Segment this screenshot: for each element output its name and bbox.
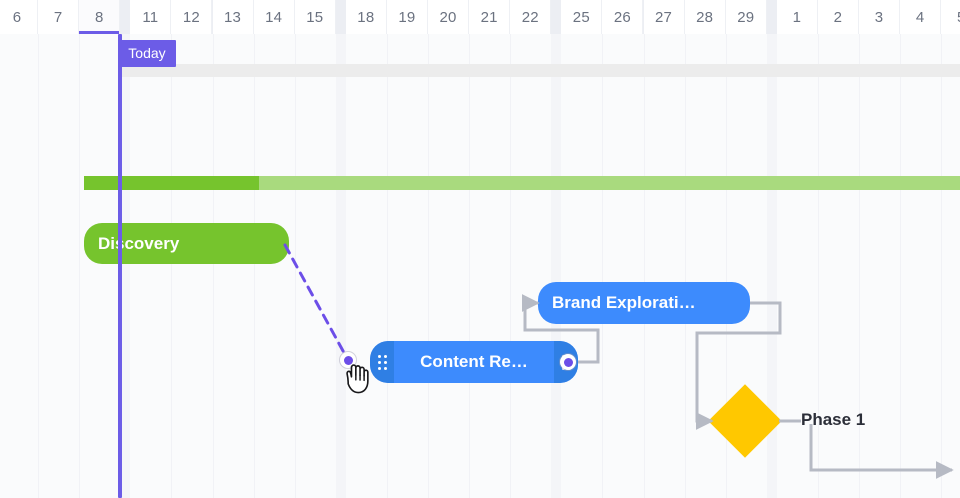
timeline-day-15[interactable]: 15 xyxy=(295,0,336,34)
grid-line xyxy=(213,34,214,498)
grid-line xyxy=(510,34,511,498)
timeline-day-label: 21 xyxy=(481,9,498,26)
grid-line xyxy=(685,34,686,498)
task-bar-content-review[interactable]: Content Re… xyxy=(370,341,578,383)
timeline-day-label: 12 xyxy=(183,9,200,26)
timeline-day-label: 28 xyxy=(696,9,713,26)
timeline-day-1[interactable]: 1 xyxy=(777,0,818,34)
timeline-day-21[interactable]: 21 xyxy=(469,0,510,34)
timeline-day-label: 13 xyxy=(224,9,241,26)
task-bar-discovery[interactable]: Discovery xyxy=(84,223,289,264)
timeline-day-label: 18 xyxy=(357,9,374,26)
weekend-band xyxy=(336,34,346,498)
timeline-day-13[interactable]: 13 xyxy=(213,0,254,34)
timeline-day-28[interactable]: 28 xyxy=(685,0,726,34)
timeline-day-22[interactable]: 22 xyxy=(510,0,551,34)
timeline-day-29[interactable]: 29 xyxy=(726,0,767,34)
task-label-brand-exploration: Brand Explorati… xyxy=(538,293,702,313)
timeline-day-label: 1 xyxy=(793,9,802,26)
weekend-band xyxy=(551,34,561,498)
grid-line xyxy=(387,34,388,498)
grid-line xyxy=(469,34,470,498)
timeline-day-label: 6 xyxy=(13,9,22,26)
timeline-day-label: 26 xyxy=(614,9,631,26)
timeline-day-label: 2 xyxy=(834,9,843,26)
today-marker-line xyxy=(118,34,122,498)
grid-line xyxy=(428,34,429,498)
project-progress-bar[interactable] xyxy=(84,176,960,190)
timeline-day-7[interactable]: 7 xyxy=(38,0,79,34)
task-resize-handle-left[interactable] xyxy=(370,341,394,383)
grid-line xyxy=(79,34,80,498)
timeline-day-label: 29 xyxy=(737,9,754,26)
progress-remaining-segment xyxy=(259,176,960,190)
gantt-chart-view: Today Discovery Content Re… Brand Explor… xyxy=(0,0,960,498)
drag-grip-icon xyxy=(378,355,387,370)
summary-placeholder-band xyxy=(118,64,960,77)
timeline-day-26[interactable]: 26 xyxy=(602,0,643,34)
timeline-day-27[interactable]: 27 xyxy=(644,0,685,34)
today-column-underline xyxy=(79,31,119,34)
timeline-day-label: 7 xyxy=(54,9,63,26)
timeline-day-14[interactable]: 14 xyxy=(254,0,295,34)
grid-line xyxy=(38,34,39,498)
grid-line xyxy=(602,34,603,498)
milestone-label-phase-1: Phase 1 xyxy=(801,410,865,430)
timeline-day-label: 4 xyxy=(916,9,925,26)
today-badge[interactable]: Today xyxy=(118,40,175,67)
timeline-day-4[interactable]: 4 xyxy=(900,0,941,34)
timeline-day-label: 19 xyxy=(398,9,415,26)
grid-line xyxy=(254,34,255,498)
grid-line xyxy=(171,34,172,498)
task-bar-brand-exploration[interactable]: Brand Explorati… xyxy=(538,282,750,324)
timeline-day-label: 14 xyxy=(265,9,282,26)
grid-line xyxy=(941,34,942,498)
timeline-day-3[interactable]: 3 xyxy=(859,0,900,34)
timeline-day-25[interactable]: 25 xyxy=(561,0,602,34)
timeline-day-5[interactable]: 5 xyxy=(941,0,960,34)
grid-line xyxy=(900,34,901,498)
grid-line xyxy=(644,34,645,498)
connector-dot-content-review-right[interactable] xyxy=(560,354,576,370)
timeline-day-label: 22 xyxy=(522,9,539,26)
timeline-day-label: 25 xyxy=(573,9,590,26)
timeline-day-label: 8 xyxy=(95,9,104,26)
timeline-day-11[interactable]: 11 xyxy=(130,0,171,34)
timeline-day-19[interactable]: 19 xyxy=(387,0,428,34)
timeline-day-label: 11 xyxy=(142,9,158,26)
task-label-discovery: Discovery xyxy=(84,234,185,254)
timeline-day-label: 20 xyxy=(440,9,457,26)
timeline-day-20[interactable]: 20 xyxy=(428,0,469,34)
timeline-day-8[interactable]: 8 xyxy=(79,0,120,34)
task-label-content-review: Content Re… xyxy=(370,352,578,372)
timeline-day-18[interactable]: 18 xyxy=(346,0,387,34)
timeline-day-label: 15 xyxy=(306,9,323,26)
progress-completed-segment xyxy=(84,176,259,190)
timeline-header: 67811121314151819202122252627282912345 xyxy=(0,0,960,34)
grid-line xyxy=(295,34,296,498)
timeline-day-6[interactable]: 6 xyxy=(0,0,38,34)
timeline-day-12[interactable]: 12 xyxy=(171,0,212,34)
timeline-day-label: 3 xyxy=(875,9,884,26)
timeline-day-label: 27 xyxy=(655,9,672,26)
timeline-day-2[interactable]: 2 xyxy=(818,0,859,34)
connector-dot-content-review-left[interactable] xyxy=(340,352,356,368)
